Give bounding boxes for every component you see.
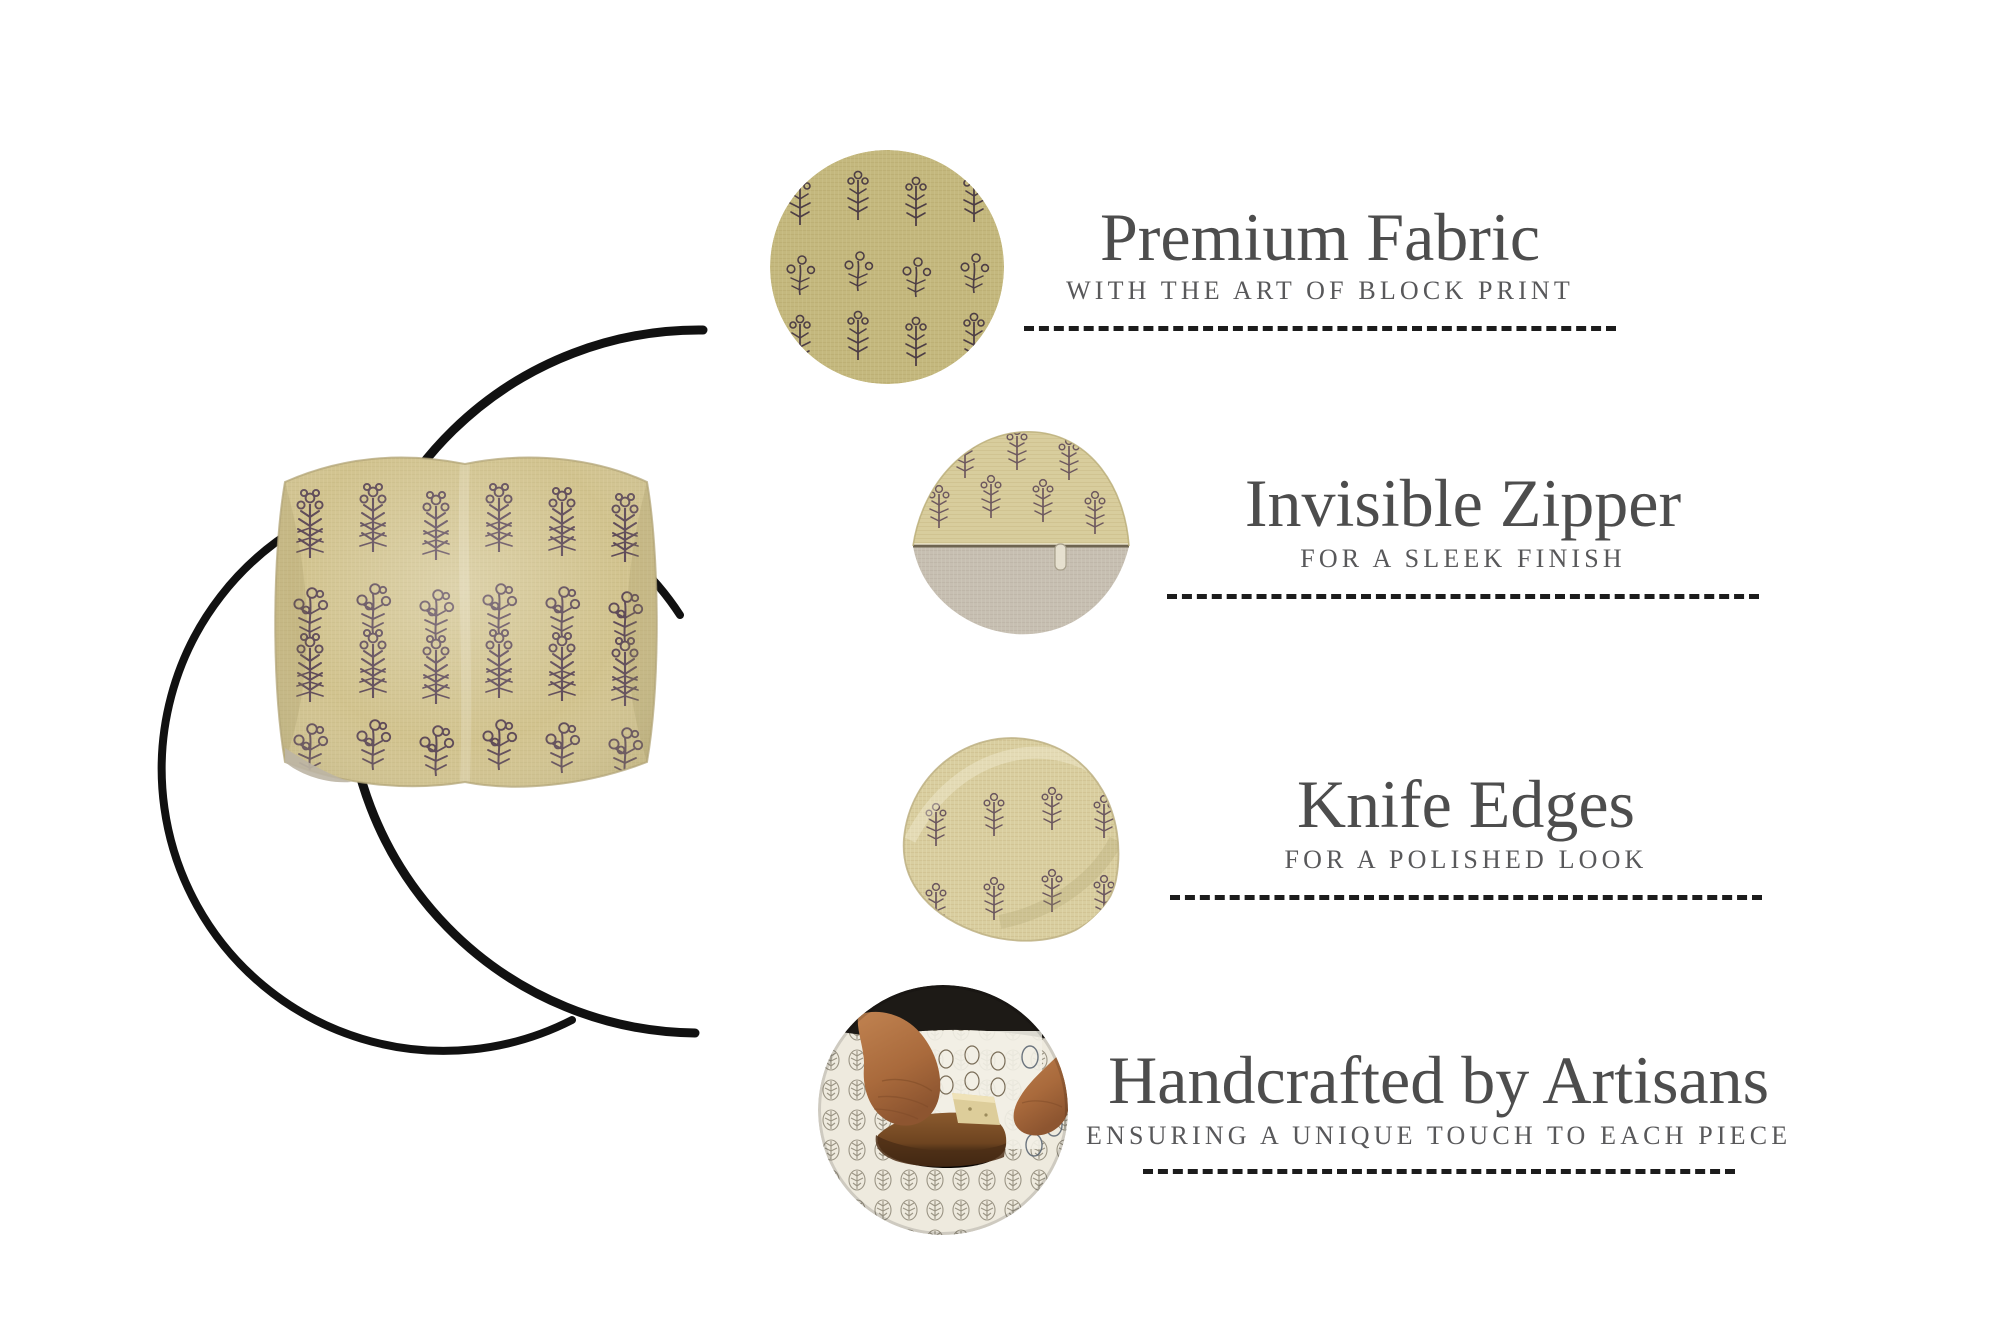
feature-divider: [1167, 594, 1759, 599]
main-pillow-image: [255, 430, 675, 825]
feature-subtitle: FOR A SLEEK FINISH: [1300, 544, 1626, 574]
knife-edge-corner-photo: [890, 720, 1130, 950]
feature-divider: [1143, 1169, 1735, 1174]
feature-divider: [1024, 326, 1616, 331]
feature-premium-fabric[interactable]: Premium Fabric WITH THE ART OF BLOCK PRI…: [770, 150, 1616, 384]
feature-text-block: Invisible Zipper FOR A SLEEK FINISH: [1167, 469, 1759, 599]
feature-title: Invisible Zipper: [1245, 469, 1681, 538]
feature-invisible-zipper[interactable]: Invisible Zipper FOR A SLEEK FINISH: [905, 418, 1759, 650]
pillow-body: [255, 430, 675, 825]
pillow-block-print-pattern: [255, 430, 675, 825]
feature-text-block: Premium Fabric WITH THE ART OF BLOCK PRI…: [1024, 203, 1616, 331]
feature-title: Handcrafted by Artisans: [1108, 1046, 1769, 1115]
feature-subtitle: WITH THE ART OF BLOCK PRINT: [1066, 276, 1574, 306]
feature-handcrafted-by-artisans[interactable]: Handcrafted by Artisans ENSURING A UNIQU…: [818, 985, 1791, 1235]
fabric-swatch-photo: [770, 150, 1004, 384]
zipper-pull-icon: [1055, 544, 1066, 570]
feature-title: Knife Edges: [1297, 770, 1635, 839]
zipper-corner-photo: [905, 418, 1137, 650]
feature-text-block: Knife Edges FOR A POLISHED LOOK: [1170, 770, 1762, 900]
feature-knife-edges[interactable]: Knife Edges FOR A POLISHED LOOK: [890, 720, 1762, 950]
feature-divider: [1170, 895, 1762, 900]
feature-subtitle: FOR A POLISHED LOOK: [1285, 845, 1648, 875]
feature-text-block: Handcrafted by Artisans ENSURING A UNIQU…: [1086, 1046, 1791, 1174]
artisan-block-printing-photo: [818, 985, 1068, 1235]
infographic-canvas: Premium Fabric WITH THE ART OF BLOCK PRI…: [0, 0, 2000, 1333]
feature-title: Premium Fabric: [1100, 203, 1540, 272]
feature-subtitle: ENSURING A UNIQUE TOUCH TO EACH PIECE: [1086, 1121, 1791, 1151]
